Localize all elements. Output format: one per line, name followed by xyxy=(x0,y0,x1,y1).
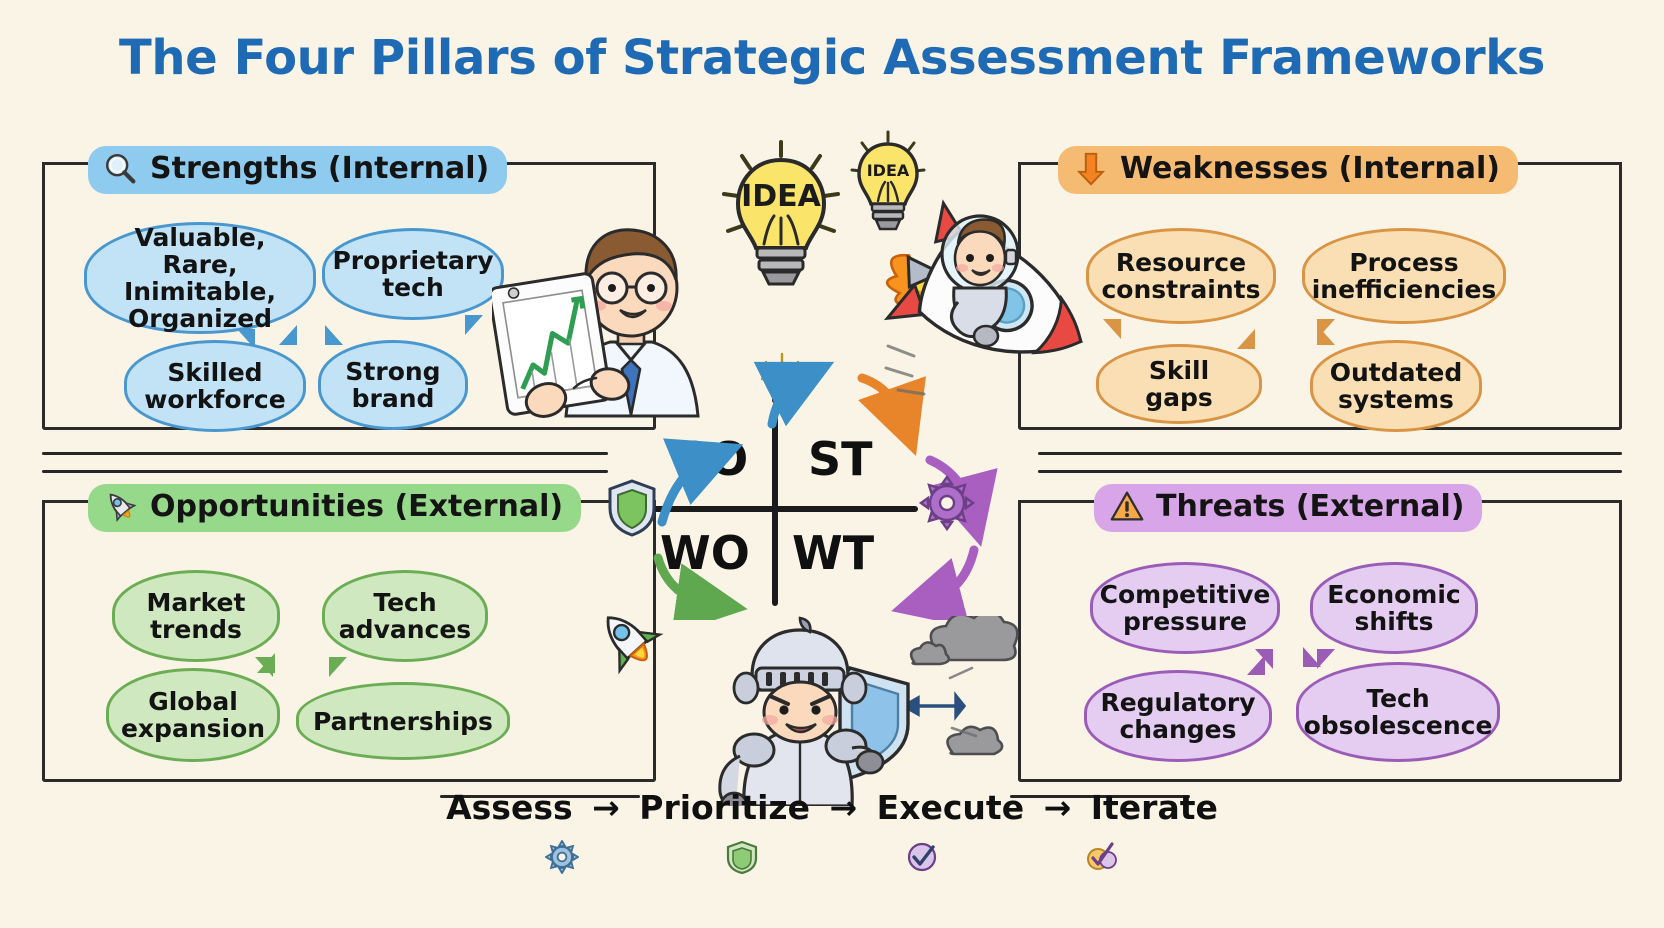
flow-arrow: → xyxy=(1044,788,1072,827)
bubble-threat-2[interactable]: Economic shifts xyxy=(1310,562,1478,654)
bubble-tail xyxy=(329,657,347,677)
shield-icon xyxy=(606,478,658,538)
bubble-text: Competitive pressure xyxy=(1100,581,1271,635)
bubble-opportunity-1[interactable]: Market trends xyxy=(112,570,280,662)
process-flow: Assess → Prioritize → Execute → Iterate xyxy=(0,788,1664,827)
check-circle-icon xyxy=(905,840,939,874)
bubble-tail xyxy=(279,325,297,345)
flow-icon-slot xyxy=(1012,840,1192,874)
bubble-text: Market trends xyxy=(127,589,265,643)
frame-stub xyxy=(1500,162,1622,165)
divider-line xyxy=(42,452,608,455)
gear-icon xyxy=(918,474,976,532)
bubble-threat-3[interactable]: Regulatory changes xyxy=(1084,670,1272,762)
bubble-text: Skilled workforce xyxy=(139,359,291,413)
bubble-text: Global expansion xyxy=(121,688,265,742)
flow-step-assess[interactable]: Assess xyxy=(446,788,573,827)
quadrant-label: Threats (External) xyxy=(1156,492,1464,522)
bubble-text: Skill gaps xyxy=(1111,357,1247,411)
divider-line xyxy=(1038,452,1622,455)
bubble-tail xyxy=(325,325,343,345)
bubble-tail xyxy=(1237,329,1255,349)
bubble-text: Regulatory changes xyxy=(1099,689,1257,743)
astronaut-rocket-illustration xyxy=(884,196,1114,416)
divider-line xyxy=(42,470,608,473)
bubble-strength-1[interactable]: Valuable, Rare, Inimitable, Organized xyxy=(84,222,316,334)
bubble-text: Economic shifts xyxy=(1325,581,1463,635)
quadrant-header-weaknesses[interactable]: Weaknesses (Internal) xyxy=(1058,146,1518,194)
frame-stub xyxy=(42,500,88,503)
idea-lightbulb-large: IDEA xyxy=(716,136,846,306)
quadrant-label: Opportunities (External) xyxy=(150,492,563,522)
bubble-text: Valuable, Rare, Inimitable, Organized xyxy=(99,224,301,332)
flow-arrow: → xyxy=(592,788,620,827)
bubble-opportunity-4[interactable]: Partnerships xyxy=(296,682,510,760)
bubble-strength-4[interactable]: Strong brand xyxy=(318,340,468,430)
bubble-text: Process inefficiencies xyxy=(1312,249,1497,303)
bubble-threat-1[interactable]: Competitive pressure xyxy=(1090,562,1280,654)
bubble-tail xyxy=(465,315,483,335)
quadrant-label: Weaknesses (Internal) xyxy=(1120,154,1500,184)
quadrant-header-threats[interactable]: Threats (External) xyxy=(1094,484,1482,532)
magnifier-icon xyxy=(102,150,140,188)
bubble-text: Resource constraints xyxy=(1101,249,1261,303)
bubble-weakness-3[interactable]: Skill gaps xyxy=(1096,344,1262,424)
bubble-weakness-4[interactable]: Outdated systems xyxy=(1310,340,1482,432)
frame-stub xyxy=(1468,500,1622,503)
bubble-text: Partnerships xyxy=(313,708,493,735)
process-flow-icons xyxy=(0,840,1664,874)
lightbulb-label-small: IDEA xyxy=(867,161,910,180)
flow-step-iterate[interactable]: Iterate xyxy=(1091,788,1218,827)
flow-icon-slot xyxy=(652,840,832,874)
bubble-weakness-1[interactable]: Resource constraints xyxy=(1086,228,1276,324)
bubble-opportunity-3[interactable]: Global expansion xyxy=(106,668,280,762)
down-arrow-icon xyxy=(1072,150,1110,188)
bubble-tail xyxy=(1303,647,1321,667)
bubble-tail xyxy=(257,653,275,673)
frame-stub xyxy=(506,162,656,165)
analyst-with-tablet-illustration xyxy=(492,192,722,422)
divider-line xyxy=(1038,470,1622,473)
diagram-canvas: The Four Pillars of Strategic Assessment… xyxy=(0,0,1664,928)
bubble-tail xyxy=(1247,655,1265,675)
bubble-strength-3[interactable]: Skilled workforce xyxy=(124,340,306,432)
knight-with-shield-illustration xyxy=(700,616,1020,806)
bubble-tail xyxy=(1317,325,1335,345)
bubble-threat-4[interactable]: Tech obsolescence xyxy=(1296,662,1500,762)
bubble-text: Tech obsolescence xyxy=(1304,685,1493,739)
bubble-text: Tech advances xyxy=(337,589,473,643)
page-title: The Four Pillars of Strategic Assessment… xyxy=(0,30,1664,86)
flow-arrow: → xyxy=(830,788,858,827)
flow-icon-slot xyxy=(472,840,652,874)
quadrant-header-opportunities[interactable]: Opportunities (External) xyxy=(88,484,581,532)
frame-stub xyxy=(42,162,88,165)
quadrant-label: Strengths (Internal) xyxy=(150,154,489,184)
flow-icon-slot xyxy=(832,840,1012,874)
shield-icon xyxy=(725,840,759,874)
flow-step-execute[interactable]: Execute xyxy=(877,788,1024,827)
frame-stub xyxy=(1018,162,1058,165)
warning-triangle-icon xyxy=(1108,488,1146,526)
bubble-weakness-2[interactable]: Process inefficiencies xyxy=(1302,228,1506,324)
bubble-text: Proprietary tech xyxy=(332,247,493,301)
check-badge-icon xyxy=(1085,840,1119,874)
lightbulb-label-large: IDEA xyxy=(741,179,822,214)
bubble-strength-2[interactable]: Proprietary tech xyxy=(322,228,504,320)
flow-step-prioritize[interactable]: Prioritize xyxy=(639,788,810,827)
gear-icon xyxy=(545,840,579,874)
quadrant-header-strengths[interactable]: Strengths (Internal) xyxy=(88,146,507,194)
small-green-rocket-icon xyxy=(592,604,670,682)
rocket-icon xyxy=(102,488,140,526)
bubble-text: Strong brand xyxy=(333,358,453,412)
bubble-opportunity-2[interactable]: Tech advances xyxy=(322,570,488,662)
bubble-text: Outdated systems xyxy=(1325,359,1467,413)
